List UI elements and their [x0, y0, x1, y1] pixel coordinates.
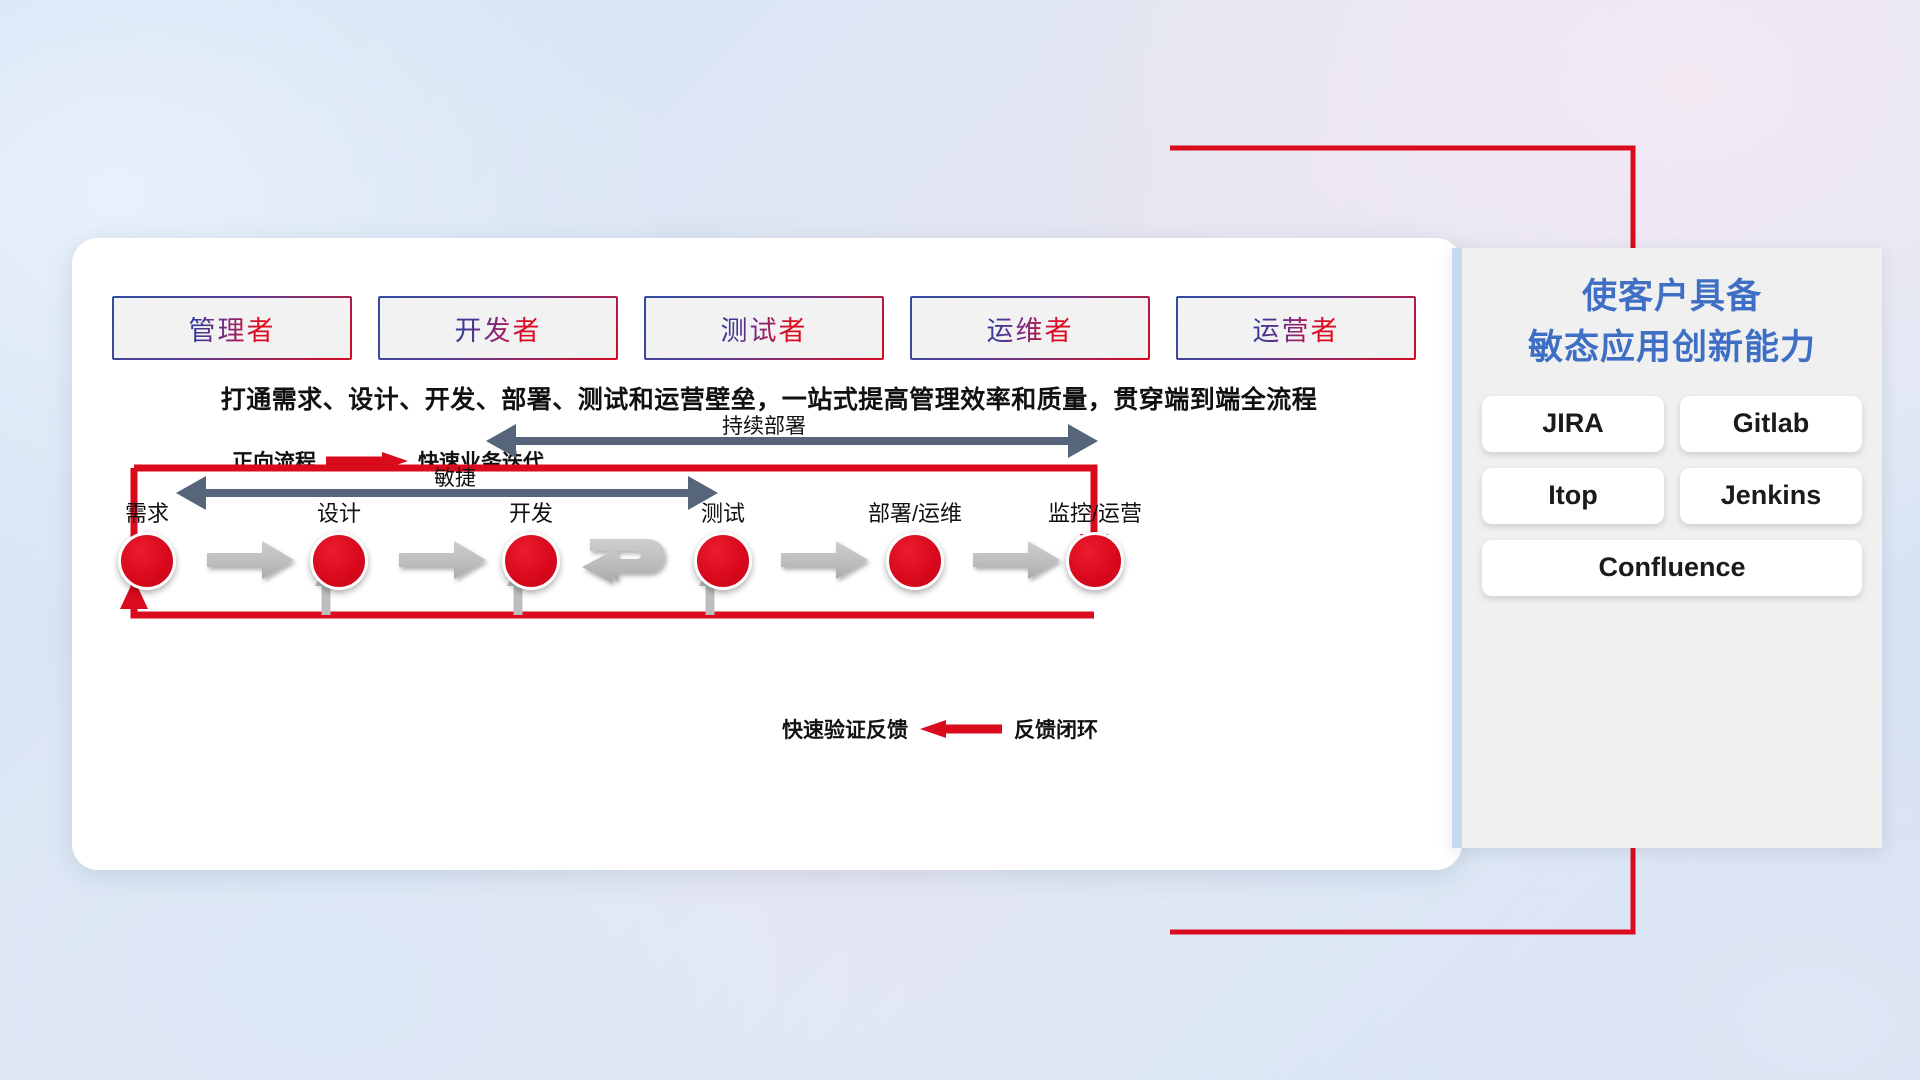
stage-label: 开发	[471, 496, 591, 528]
stage-deploy-ops[interactable]: 部署/运维	[855, 496, 975, 590]
role-box-business[interactable]: 运营者	[1176, 296, 1416, 360]
stage-dot	[886, 532, 944, 590]
stage-dot	[310, 532, 368, 590]
tool-jira[interactable]: JIRA	[1482, 396, 1664, 452]
role-box-operator[interactable]: 运维者	[910, 296, 1150, 360]
role-label: 运维者	[987, 309, 1074, 348]
legend-feedback-right-label: 反馈闭环	[1014, 714, 1098, 744]
panel-title-line1: 使客户具备	[1462, 272, 1882, 323]
role-label: 测试者	[721, 309, 808, 348]
tool-jenkins[interactable]: Jenkins	[1680, 468, 1862, 524]
tool-label: Itop	[1548, 480, 1597, 511]
stage-label: 设计	[279, 496, 399, 528]
legend-forward-left-label: 正向流程	[232, 446, 316, 476]
stage-label: 需求	[87, 496, 207, 528]
panel-title: 使客户具备 敏态应用创新能力	[1462, 272, 1882, 374]
legend-red-arrow-left-icon	[918, 718, 1004, 740]
legend-forward-flow: 正向流程 快速业务迭代	[232, 446, 544, 476]
stage-dot	[694, 532, 752, 590]
tool-label: Gitlab	[1733, 408, 1810, 439]
stage-monitor-operations[interactable]: 监控/运营	[1035, 496, 1155, 590]
legend-feedback-loop: 快速验证反馈 反馈闭环	[782, 714, 1098, 744]
tool-gitlab[interactable]: Gitlab	[1680, 396, 1862, 452]
tool-itop[interactable]: Itop	[1482, 468, 1664, 524]
label-agile: 敏捷	[434, 462, 476, 492]
legend-feedback-left-label: 快速验证反馈	[782, 714, 908, 744]
stage-label: 部署/运维	[855, 496, 975, 528]
main-diagram-card: 管理者 开发者 测试者 运维者 运营者 打通需求、设计、开发、部署、测试和运营壁…	[72, 238, 1462, 870]
stage-dot	[502, 532, 560, 590]
tool-label: JIRA	[1542, 408, 1604, 439]
tool-label: Jenkins	[1721, 480, 1822, 511]
tool-confluence[interactable]: Confluence	[1482, 540, 1862, 596]
role-label: 开发者	[455, 309, 542, 348]
stage-dot	[118, 532, 176, 590]
tool-list: JIRA Gitlab Itop Jenkins Confluence	[1482, 396, 1862, 596]
stage-label: 测试	[663, 496, 783, 528]
role-boxes-row: 管理者 开发者 测试者 运维者 运营者	[112, 296, 1416, 360]
stage-design[interactable]: 设计	[279, 496, 399, 590]
slide-canvas: 管理者 开发者 测试者 运维者 运营者 打通需求、设计、开发、部署、测试和运营壁…	[0, 0, 1920, 1080]
role-box-developer[interactable]: 开发者	[378, 296, 618, 360]
stage-label: 监控/运营	[1035, 496, 1155, 528]
stage-requirement[interactable]: 需求	[87, 496, 207, 590]
stage-development[interactable]: 开发	[471, 496, 591, 590]
role-label: 运营者	[1253, 309, 1340, 348]
dev-test-exchange-arrow-icon	[582, 539, 665, 583]
legend-red-arrow-icon	[324, 450, 410, 472]
stage-dot	[1066, 532, 1124, 590]
panel-title-line2: 敏态应用创新能力	[1462, 323, 1882, 374]
role-label: 管理者	[189, 309, 276, 348]
tool-label: Confluence	[1598, 552, 1745, 583]
role-box-manager[interactable]: 管理者	[112, 296, 352, 360]
value-proposition-panel: 使客户具备 敏态应用创新能力 JIRA Gitlab Itop Jenkins …	[1452, 248, 1882, 848]
role-box-tester[interactable]: 测试者	[644, 296, 884, 360]
label-continuous-deployment: 持续部署	[722, 410, 806, 440]
stage-testing[interactable]: 测试	[663, 496, 783, 590]
